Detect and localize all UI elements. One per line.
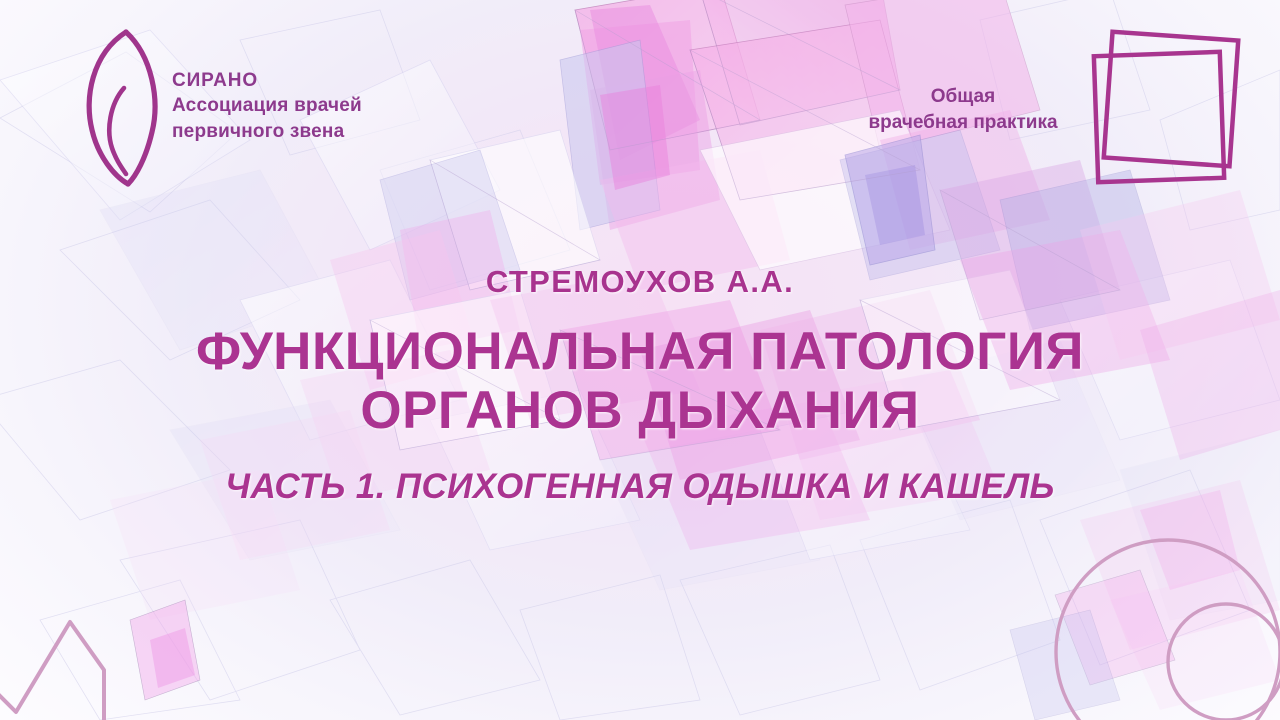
double-circle-outlines-icon [1020,530,1280,720]
organization-logo-text: СИРАНО Ассоциация врачей первичного звен… [172,68,362,144]
author-name: СТРЕМОУХОВ А.А. [0,264,1280,300]
zigzag-chevron-line-icon [0,600,142,720]
headline-block: СТРЕМОУХОВ А.А. ФУНКЦИОНАЛЬНАЯ ПАТОЛОГИЯ… [0,264,1280,507]
gp-line-1: Общая [838,84,1088,110]
title-line-2: ОРГАНОВ ДЫХАНИЯ [60,381,1220,440]
general-practice-caption: Общая врачебная практика [838,84,1088,135]
page-title: ФУНКЦИОНАЛЬНАЯ ПАТОЛОГИЯ ОРГАНОВ ДЫХАНИЯ [0,322,1280,441]
title-line-1: ФУНКЦИОНАЛЬНАЯ ПАТОЛОГИЯ [60,322,1220,381]
logo-line-2: Ассоциация врачей [172,93,362,118]
leaf-logo-icon [76,26,172,188]
logo-line-3: первичного звена [172,119,362,144]
gp-line-2: врачебная практика [838,110,1088,136]
page-subtitle: ЧАСТЬ 1. ПСИХОГЕННАЯ ОДЫШКА И КАШЕЛЬ [0,467,1280,507]
double-square-frames-icon [1090,28,1270,198]
title-slide: СИРАНО Ассоциация врачей первичного звен… [0,0,1280,720]
logo-line-1: СИРАНО [172,68,362,93]
